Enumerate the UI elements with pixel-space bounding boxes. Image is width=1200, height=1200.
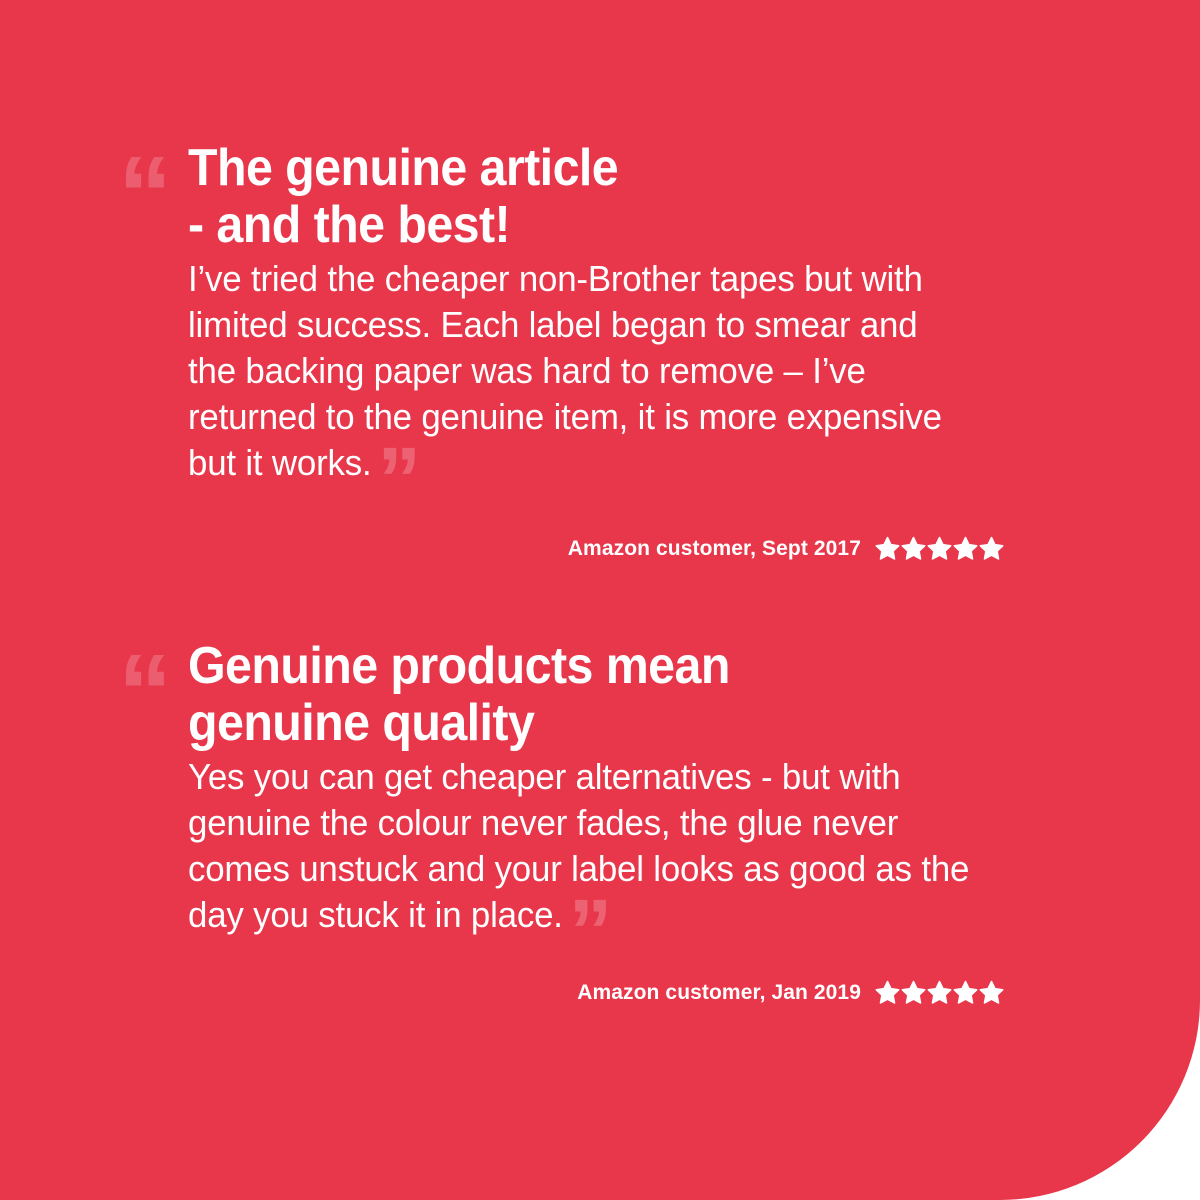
star-icon xyxy=(927,536,952,561)
testimonial-2-body: Yes you can get cheaper alternatives - b… xyxy=(188,752,971,938)
testimonial-2-rating xyxy=(875,980,1004,1005)
testimonial-1-body: I’ve tried the cheaper non-Brother tapes… xyxy=(188,254,971,486)
testimonial-1-rating xyxy=(875,536,1004,561)
testimonial-card: “ The genuine article - and the best! I’… xyxy=(0,0,1200,1200)
testimonial-1-body-text: I’ve tried the cheaper non-Brother tapes… xyxy=(188,258,942,483)
testimonial-2-headline: Genuine products mean genuine quality xyxy=(188,638,951,752)
testimonial-2-content: Genuine products mean genuine quality Ye… xyxy=(188,638,1008,938)
star-icon xyxy=(979,536,1004,561)
open-quote-icon: “ xyxy=(118,140,168,248)
testimonial-1-author: Amazon customer, Sept 2017 xyxy=(568,537,861,561)
testimonial-1-attribution: Amazon customer, Sept 2017 xyxy=(568,536,1004,561)
testimonial-1-content: The genuine article - and the best! I’ve… xyxy=(188,140,1008,486)
testimonial-2-author: Amazon customer, Jan 2019 xyxy=(577,981,861,1005)
star-icon xyxy=(875,980,900,1005)
star-icon xyxy=(901,536,926,561)
star-icon xyxy=(953,980,978,1005)
star-icon xyxy=(875,536,900,561)
star-icon xyxy=(979,980,1004,1005)
open-quote-icon: “ xyxy=(118,638,168,746)
star-icon xyxy=(953,536,978,561)
testimonial-2-attribution: Amazon customer, Jan 2019 xyxy=(577,980,1004,1005)
star-icon xyxy=(901,980,926,1005)
testimonial-1-headline: The genuine article - and the best! xyxy=(188,140,951,254)
star-icon xyxy=(927,980,952,1005)
